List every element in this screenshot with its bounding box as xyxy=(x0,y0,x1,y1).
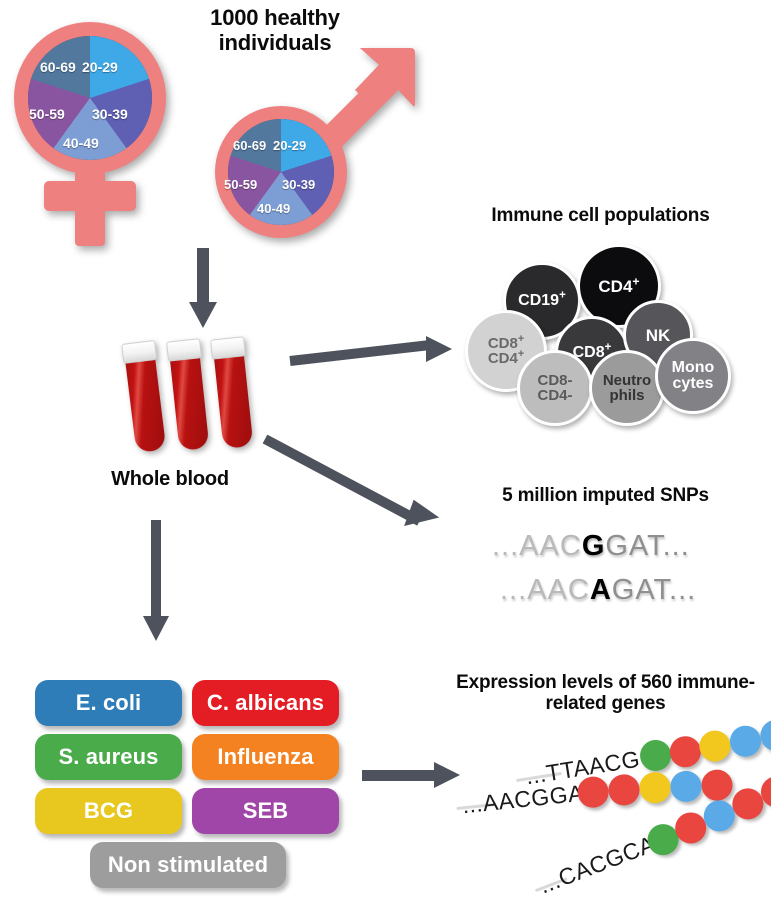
female-symbol-group: 20-29 30-39 40-49 50-59 60-69 xyxy=(8,18,188,248)
snp-prefix: ...AAC xyxy=(492,530,582,562)
superscript-plus: + xyxy=(605,342,612,354)
snp-suffix: GAT... xyxy=(612,574,696,606)
arrow-shaft xyxy=(151,520,161,620)
pie-label-female-40-49: 40-49 xyxy=(63,135,99,151)
immune-cell-label: Neutro phils xyxy=(603,373,651,403)
immune-cell-monocytes[interactable]: Mono cytes xyxy=(655,338,731,414)
strand-bead xyxy=(607,773,641,807)
arrow-cohort-to-blood xyxy=(185,248,225,328)
blood-tube-cap xyxy=(121,340,157,364)
pie-label-female-20-29: 20-29 xyxy=(82,59,118,75)
snp-variant-g: G xyxy=(582,530,606,562)
pie-label-female-30-39: 30-39 xyxy=(92,106,128,122)
immune-cells-group: CD19+ CD4+ CD8+ CD4+ CD8+ NK CD8- C xyxy=(455,238,745,423)
arrow-shaft xyxy=(197,248,209,306)
arrow-head xyxy=(426,336,452,362)
pie-label-male-50-59: 50-59 xyxy=(224,177,257,192)
snp-allele-row-2: ...AACAGAT... xyxy=(500,574,696,607)
arrow-shaft xyxy=(263,435,422,526)
male-symbol-arrow-head xyxy=(355,48,415,108)
snp-sequences-group: ...AACGGAT... ...AACAGAT... xyxy=(492,530,732,620)
blood-tube-1-inner xyxy=(121,340,168,455)
strand-bead xyxy=(668,734,703,769)
blood-tube-cap xyxy=(166,338,202,361)
pie-label-male-30-39: 30-39 xyxy=(282,177,315,192)
figure-canvas: 1000 healthy individuals Immune cell pop… xyxy=(0,0,771,922)
superscript-plus: + xyxy=(518,348,524,360)
stimulus-bcg[interactable]: BCG xyxy=(35,788,182,834)
stimulus-c-albicans[interactable]: C. albicans xyxy=(192,680,339,726)
superscript-plus: + xyxy=(518,333,524,345)
pie-label-male-40-49: 40-49 xyxy=(257,201,290,216)
arrow-shaft xyxy=(289,340,429,366)
snp-prefix: ...AAC xyxy=(500,574,590,606)
arrow-head xyxy=(143,616,169,641)
arrow-head xyxy=(404,500,442,537)
superscript-plus: + xyxy=(559,290,566,302)
blood-tube-body xyxy=(170,352,210,451)
immune-cell-label: CD8+ CD4+ xyxy=(488,336,524,366)
male-symbol-group: 20-29 30-39 40-49 50-59 60-69 xyxy=(205,48,420,238)
strand-bead xyxy=(728,723,763,758)
stimulus-e-coli[interactable]: E. coli xyxy=(35,680,182,726)
stimuli-group: E. coli C. albicans S. aureus Influenza … xyxy=(30,680,350,895)
arrow-blood-to-immune xyxy=(290,328,465,378)
blood-tube-3 xyxy=(210,336,256,451)
strand-bead xyxy=(758,718,771,753)
female-symbol-crossbar xyxy=(44,181,136,211)
strand-bead xyxy=(669,769,703,803)
blood-tube-body xyxy=(214,350,254,449)
stimulus-seb[interactable]: SEB xyxy=(192,788,339,834)
snp-suffix: GAT... xyxy=(605,530,689,562)
immune-cell-cd8neg-cd4neg[interactable]: CD8- CD4- xyxy=(517,350,593,426)
arrow-blood-to-stimuli xyxy=(138,520,178,640)
blood-tube-body xyxy=(125,354,166,453)
strand-sequence: ...AACGGAT xyxy=(461,778,598,819)
immune-cell-label: NK xyxy=(646,327,671,344)
section-title-expression: Expression levels of 560 immune-related … xyxy=(440,672,771,715)
stimulus-influenza[interactable]: Influenza xyxy=(192,734,339,780)
immune-cell-label: CD4+ xyxy=(598,278,639,295)
stimulus-s-aureus[interactable]: S. aureus xyxy=(35,734,182,780)
stimulus-non-stimulated[interactable]: Non stimulated xyxy=(90,842,286,888)
section-title-immune-cells: Immune cell populations xyxy=(430,205,771,226)
pie-label-female-60-69: 60-69 xyxy=(40,59,76,75)
arrow-blood-to-snps xyxy=(265,428,465,553)
strand-bead xyxy=(638,771,672,805)
immune-cell-label: CD19+ xyxy=(518,293,566,309)
immune-cell-neutrophils[interactable]: Neutro phils xyxy=(589,350,665,426)
strand-bead xyxy=(697,728,732,763)
section-title-snps: 5 million imputed SNPs xyxy=(440,485,771,506)
superscript-plus: + xyxy=(632,274,639,288)
snp-variant-a: A xyxy=(590,574,612,606)
blood-tube-cap xyxy=(210,336,246,359)
pie-label-female-50-59: 50-59 xyxy=(29,106,65,122)
snp-allele-row-1: ...AACGGAT... xyxy=(492,530,690,563)
arrow-head xyxy=(189,302,217,328)
arrow-shaft xyxy=(362,770,438,781)
immune-cell-label: Mono cytes xyxy=(672,360,715,392)
immune-cell-label: CD8- CD4- xyxy=(537,373,572,403)
strand-bead xyxy=(700,768,734,802)
pie-label-male-60-69: 60-69 xyxy=(233,138,266,153)
blood-tubes-group xyxy=(115,336,275,466)
label-whole-blood: Whole blood xyxy=(60,468,280,490)
blood-tube-2 xyxy=(166,338,212,453)
expression-strands-group: ...TTAACGG ...AACGGAT ...CACGCAA xyxy=(455,735,771,915)
pie-label-male-20-29: 20-29 xyxy=(273,138,306,153)
